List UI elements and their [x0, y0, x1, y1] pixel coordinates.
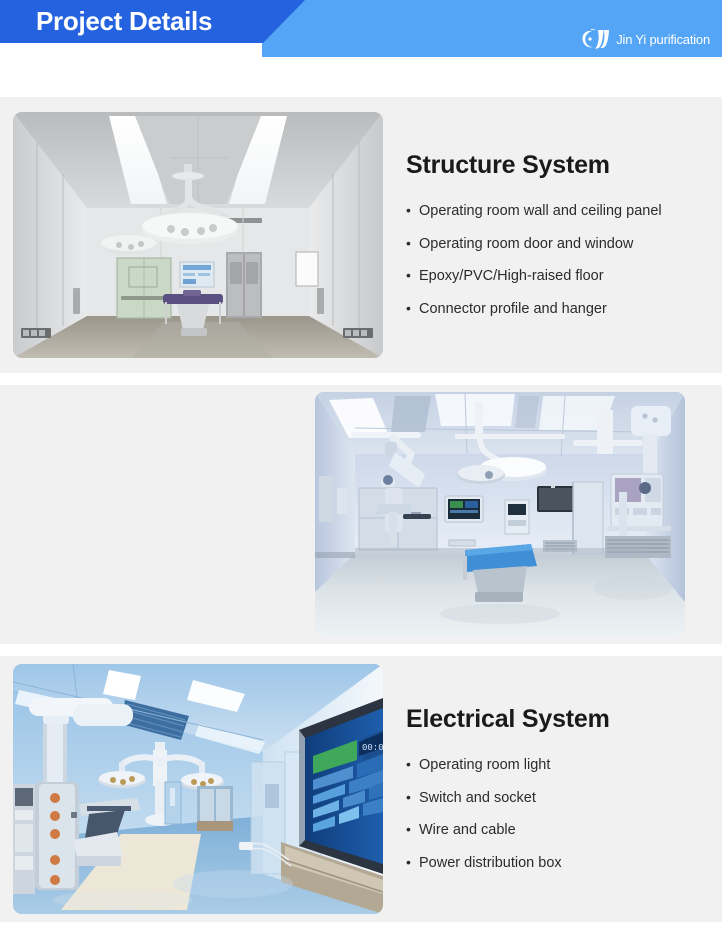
list-item: Operating room door and window [406, 235, 712, 254]
photo-operating-room-structure [13, 112, 383, 358]
brand-logo: Jin Yi purification [581, 28, 710, 50]
section-structure-system: Structure System Operating room wall and… [0, 97, 722, 373]
text-structure-system: Structure System Operating room wall and… [383, 151, 722, 319]
list-item: Switch and socket [406, 789, 712, 808]
section-title-electrical: Electrical System [406, 705, 712, 734]
page-header: Project Details Jin Yi purification [0, 0, 722, 97]
brand-name: Jin Yi purification [616, 32, 710, 47]
section-electrical-system: 00:00:00 Electrical System Operating roo… [0, 656, 722, 922]
page-title: Project Details [36, 3, 212, 40]
list-item: Connector profile and hanger [406, 300, 712, 319]
feature-list-electrical: Operating room light Switch and socket W… [406, 756, 712, 873]
feature-list-structure: Operating room wall and ceiling panel Op… [406, 202, 712, 319]
list-item: Wire and cable [406, 821, 712, 840]
list-item: Epoxy/PVC/High-raised floor [406, 267, 712, 286]
section-hvac-system: HVAC System Air handling unit HEPA filte… [0, 385, 722, 644]
photo-operating-room-electrical: 00:00:00 [13, 664, 383, 914]
list-item: Operating room light [406, 756, 712, 775]
svg-text:00:00:00: 00:00:00 [362, 743, 383, 753]
text-electrical-system: Electrical System Operating room light S… [383, 705, 722, 873]
swoosh-logo-icon [581, 28, 611, 50]
section-title-structure: Structure System [406, 151, 712, 180]
list-item: Power distribution box [406, 854, 712, 873]
list-item: Operating room wall and ceiling panel [406, 202, 712, 221]
photo-operating-room-hvac [315, 392, 685, 638]
